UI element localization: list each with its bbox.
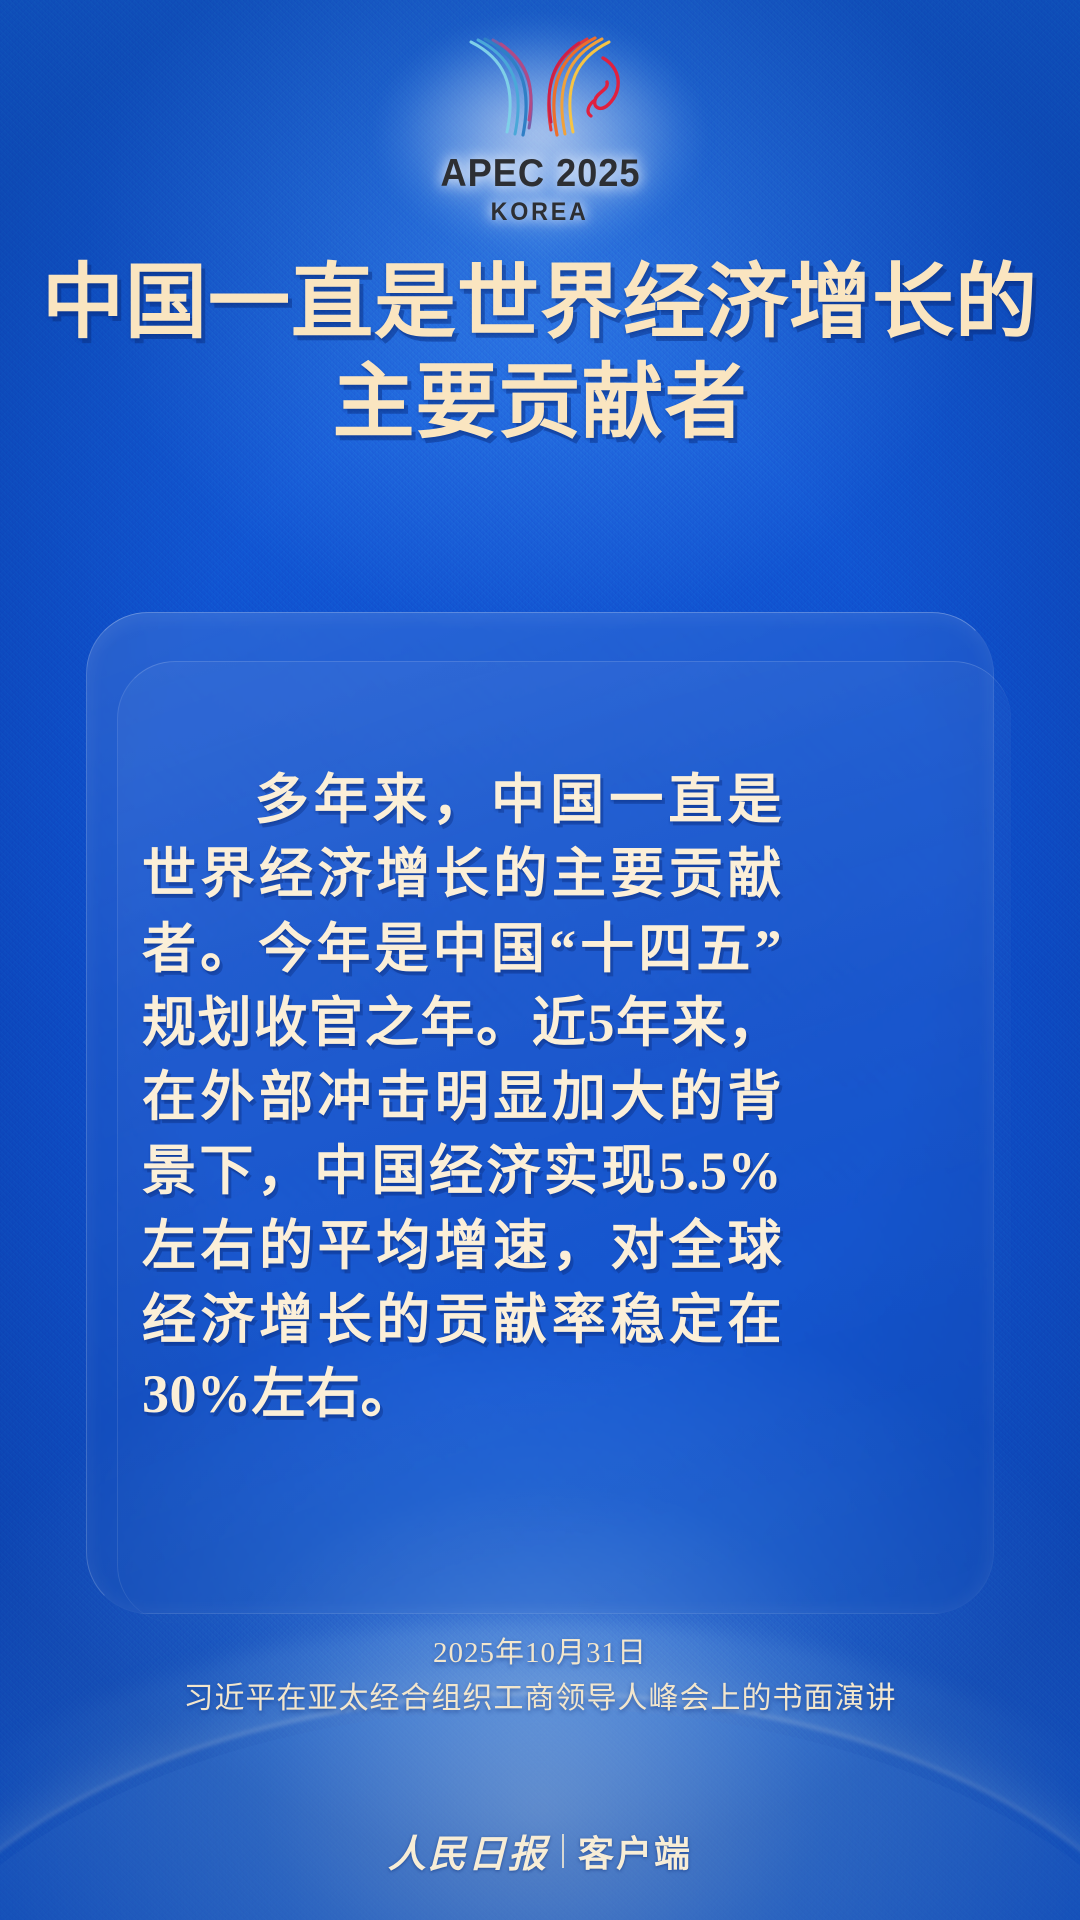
attribution-date: 2025年10月31日	[0, 1632, 1080, 1676]
logo-title: APEC 2025	[440, 152, 640, 196]
poster-root: APEC 2025 KOREA 中国一直是世界经济增长的 主要贡献者 多年来，中…	[0, 0, 1080, 1920]
attribution: 2025年10月31日 习近平在亚太经合组织工商领导人峰会上的书面演讲	[0, 1632, 1080, 1721]
apec-logo-block: APEC 2025 KOREA	[0, 28, 1080, 227]
footer-product-label: 客户端	[578, 1825, 692, 1877]
quote-body-text: 多年来，中国一直是世界经济增长的主要贡献者。今年是中国“十四五”规划收官之年。近…	[142, 770, 782, 1424]
footer-divider	[562, 1834, 564, 1868]
earth-horizon-rim	[0, 1692, 1080, 1920]
headline-line-2: 主要贡献者	[34, 353, 1046, 453]
attribution-source: 习近平在亚太经合组织工商领导人峰会上的书面演讲	[0, 1676, 1080, 1721]
quote-body: 多年来，中国一直是世界经济增长的主要贡献者。今年是中国“十四五”规划收官之年。近…	[142, 763, 782, 1431]
page-title: 中国一直是世界经济增长的 主要贡献者	[0, 253, 1080, 453]
headline-line-1: 中国一直是世界经济增长的	[42, 257, 1038, 348]
footer-brand: 人民日报 客户端	[0, 1823, 1080, 1878]
logo-subtitle: KOREA	[491, 198, 589, 227]
people-daily-logo: 人民日报	[388, 1823, 548, 1878]
apec-korea-emblem-icon	[445, 28, 635, 148]
earth-sphere	[0, 1708, 1080, 1920]
